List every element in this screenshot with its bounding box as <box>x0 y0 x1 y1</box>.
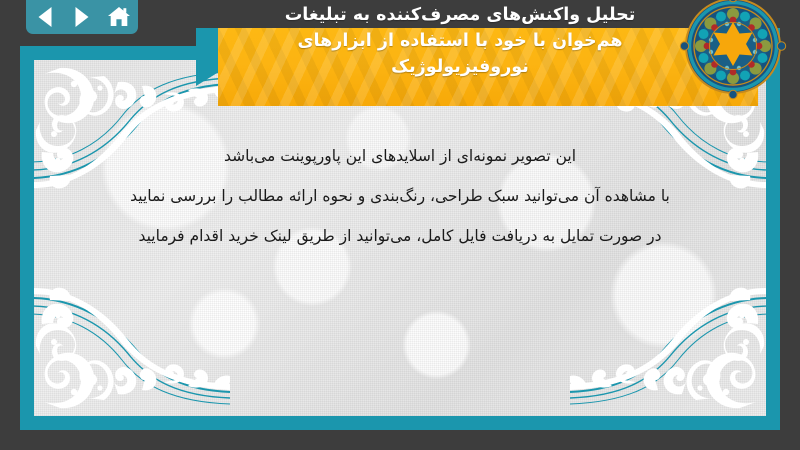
slide-body-line-2: با مشاهده آن می‌توانید سبک طراحی، رنگ‌بن… <box>34 176 766 216</box>
slide-title-line-2: هم‌خوان با خود با استفاده از ابزارهای <box>230 28 690 54</box>
slide-title-line-1: تحلیل واکنش‌های مصرف‌کننده به تبلیغات <box>230 2 690 28</box>
navigation-toolbar <box>26 0 138 34</box>
home-icon <box>106 5 132 29</box>
slide-viewer: تحلیل واکنش‌های مصرف‌کننده به تبلیغات هم… <box>0 0 800 450</box>
chevron-right-icon <box>75 7 88 27</box>
slide-title: تحلیل واکنش‌های مصرف‌کننده به تبلیغات هم… <box>230 2 690 80</box>
chevron-left-icon <box>38 7 51 27</box>
forward-button[interactable] <box>69 5 95 29</box>
arabesque-corner-ornament-bottom-right <box>570 284 766 416</box>
persian-medallion-ornament <box>679 0 787 100</box>
home-button[interactable] <box>106 5 132 29</box>
slide-title-line-3: نوروفیزیولوژیک <box>230 54 690 80</box>
slide-paper: این تصویر نمونه‌ای از اسلایدهای این پاور… <box>34 60 766 416</box>
slide-body-line-1: این تصویر نمونه‌ای از اسلایدهای این پاور… <box>34 136 766 176</box>
back-button[interactable] <box>32 5 58 29</box>
slide-body-line-3: در صورت تمایل به دریافت فایل کامل، می‌تو… <box>34 216 766 256</box>
arabesque-corner-ornament-bottom-left <box>34 284 230 416</box>
slide-body: این تصویر نمونه‌ای از اسلایدهای این پاور… <box>34 136 766 256</box>
